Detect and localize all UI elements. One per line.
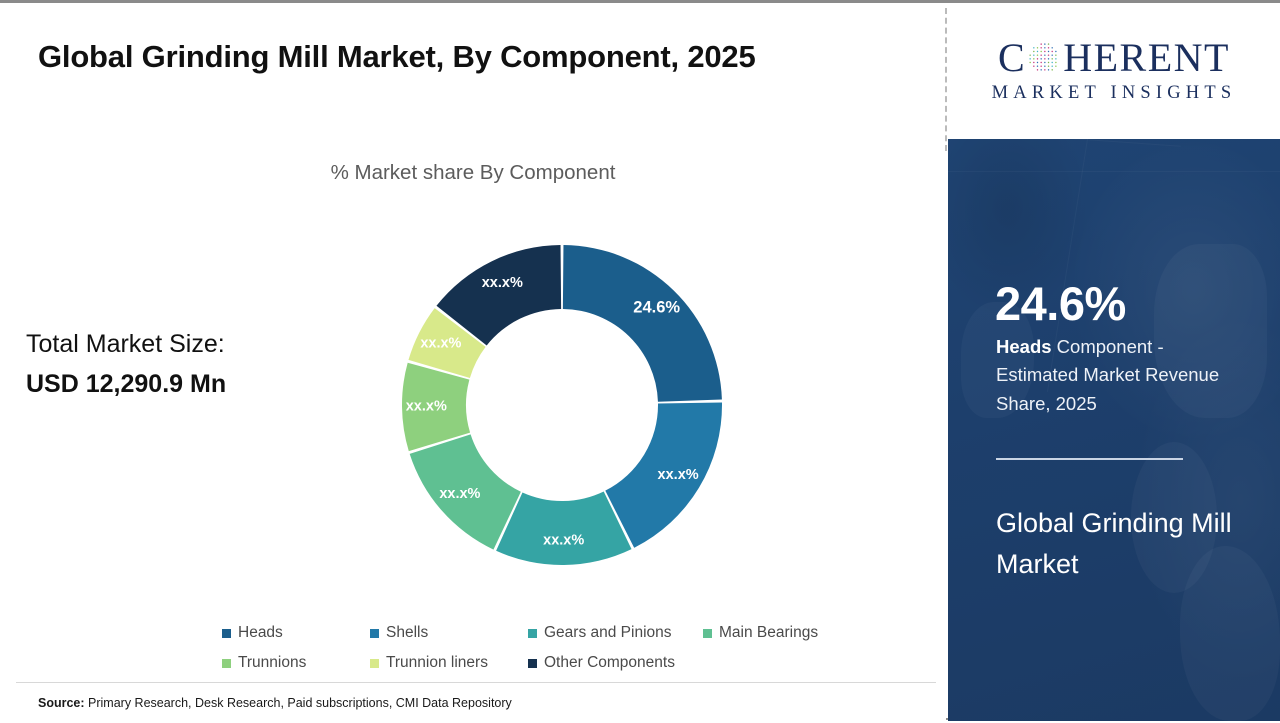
source-text: Primary Research, Desk Research, Paid su…	[85, 696, 512, 710]
kpi-description-highlight: Heads	[996, 336, 1052, 357]
kpi-market-name: Global Grinding Mill Market	[996, 503, 1256, 584]
legend-row-2: Trunnions Trunnion liners Other Componen…	[222, 648, 912, 678]
donut-slice-label: xx.x%	[420, 336, 461, 352]
legend-swatch-heads	[222, 629, 231, 638]
kpi-value: 24.6%	[995, 276, 1126, 331]
kpi-divider	[996, 458, 1183, 460]
infographic-canvas: Global Grinding Mill Market, By Componen…	[0, 0, 1280, 720]
source-note: Source: Primary Research, Desk Research,…	[38, 696, 512, 710]
donut-slice-label: xx.x%	[439, 486, 480, 502]
brand-logo-letter-c: C	[998, 34, 1026, 81]
source-divider	[16, 682, 936, 683]
texture-streak-2	[948, 171, 1280, 172]
legend-item-shells[interactable]: Shells	[370, 624, 528, 642]
right-sidebar: C HERENT MARKET INSIGHTS 24.6% Heads Com…	[948, 6, 1280, 721]
legend-swatch-other-components	[528, 659, 537, 668]
legend-item-other-components[interactable]: Other Components	[528, 654, 675, 672]
donut-slice-label: xx.x%	[406, 399, 447, 415]
brand-logo-rest: HERENT	[1063, 34, 1230, 81]
kpi-panel: 24.6% Heads Component - Estimated Market…	[948, 139, 1280, 721]
donut-slice[interactable]	[563, 245, 722, 402]
donut-slice-label: xx.x%	[658, 467, 699, 483]
legend-label-heads: Heads	[238, 624, 283, 642]
legend-label-other-components: Other Components	[544, 654, 675, 672]
legend-row-1: Heads Shells Gears and Pinions Main Bear…	[222, 618, 912, 648]
total-market-size-value: USD 12,290.9 Mn	[26, 365, 326, 405]
source-label: Source:	[38, 696, 85, 710]
donut-chart-svg: 24.6%xx.x%xx.x%xx.x%xx.x%xx.x%xx.x%	[383, 226, 741, 584]
donut-slice-label: 24.6%	[633, 298, 680, 316]
brand-logo-inner: C HERENT MARKET INSIGHTS	[960, 33, 1268, 104]
kpi-description: Heads Component - Estimated Market Reven…	[996, 333, 1246, 418]
legend-label-main-bearings: Main Bearings	[719, 624, 818, 642]
total-market-size: Total Market Size: USD 12,290.9 Mn	[26, 325, 326, 404]
texture-streak-3	[988, 139, 1180, 147]
legend-swatch-main-bearings	[703, 629, 712, 638]
legend-swatch-shells	[370, 629, 379, 638]
legend-label-trunnion-liners: Trunnion liners	[386, 654, 488, 672]
donut-slice[interactable]	[496, 491, 631, 565]
legend-swatch-gears-and-pinions	[528, 629, 537, 638]
legend-item-gears-and-pinions[interactable]: Gears and Pinions	[528, 624, 703, 642]
legend-item-main-bearings[interactable]: Main Bearings	[703, 624, 818, 642]
legend-label-trunnions: Trunnions	[238, 654, 306, 672]
brand-logo-wordmark: C HERENT	[960, 33, 1268, 81]
donut-slice-label: xx.x%	[482, 275, 523, 291]
brand-logo-tagline: MARKET INSIGHTS	[960, 83, 1268, 104]
donut-slices	[402, 245, 722, 565]
legend-item-heads[interactable]: Heads	[222, 624, 370, 642]
total-market-size-label: Total Market Size:	[26, 325, 326, 365]
donut-chart: 24.6%xx.x%xx.x%xx.x%xx.x%xx.x%xx.x%	[383, 226, 741, 584]
left-content-panel: Global Grinding Mill Market, By Componen…	[0, 3, 946, 723]
legend-label-shells: Shells	[386, 624, 428, 642]
legend-label-gears-and-pinions: Gears and Pinions	[544, 624, 672, 642]
legend-swatch-trunnion-liners	[370, 659, 379, 668]
brand-logo: C HERENT MARKET INSIGHTS	[948, 6, 1280, 139]
legend-item-trunnion-liners[interactable]: Trunnion liners	[370, 654, 528, 672]
chart-subtitle: % Market share By Component	[0, 161, 946, 185]
chart-legend: Heads Shells Gears and Pinions Main Bear…	[222, 618, 912, 678]
panel-divider	[945, 8, 947, 151]
legend-item-trunnions[interactable]: Trunnions	[222, 654, 370, 672]
legend-swatch-trunnions	[222, 659, 231, 668]
globe-dots-icon	[1027, 41, 1062, 76]
donut-slice-label: xx.x%	[543, 533, 584, 549]
page-title: Global Grinding Mill Market, By Componen…	[38, 33, 848, 82]
